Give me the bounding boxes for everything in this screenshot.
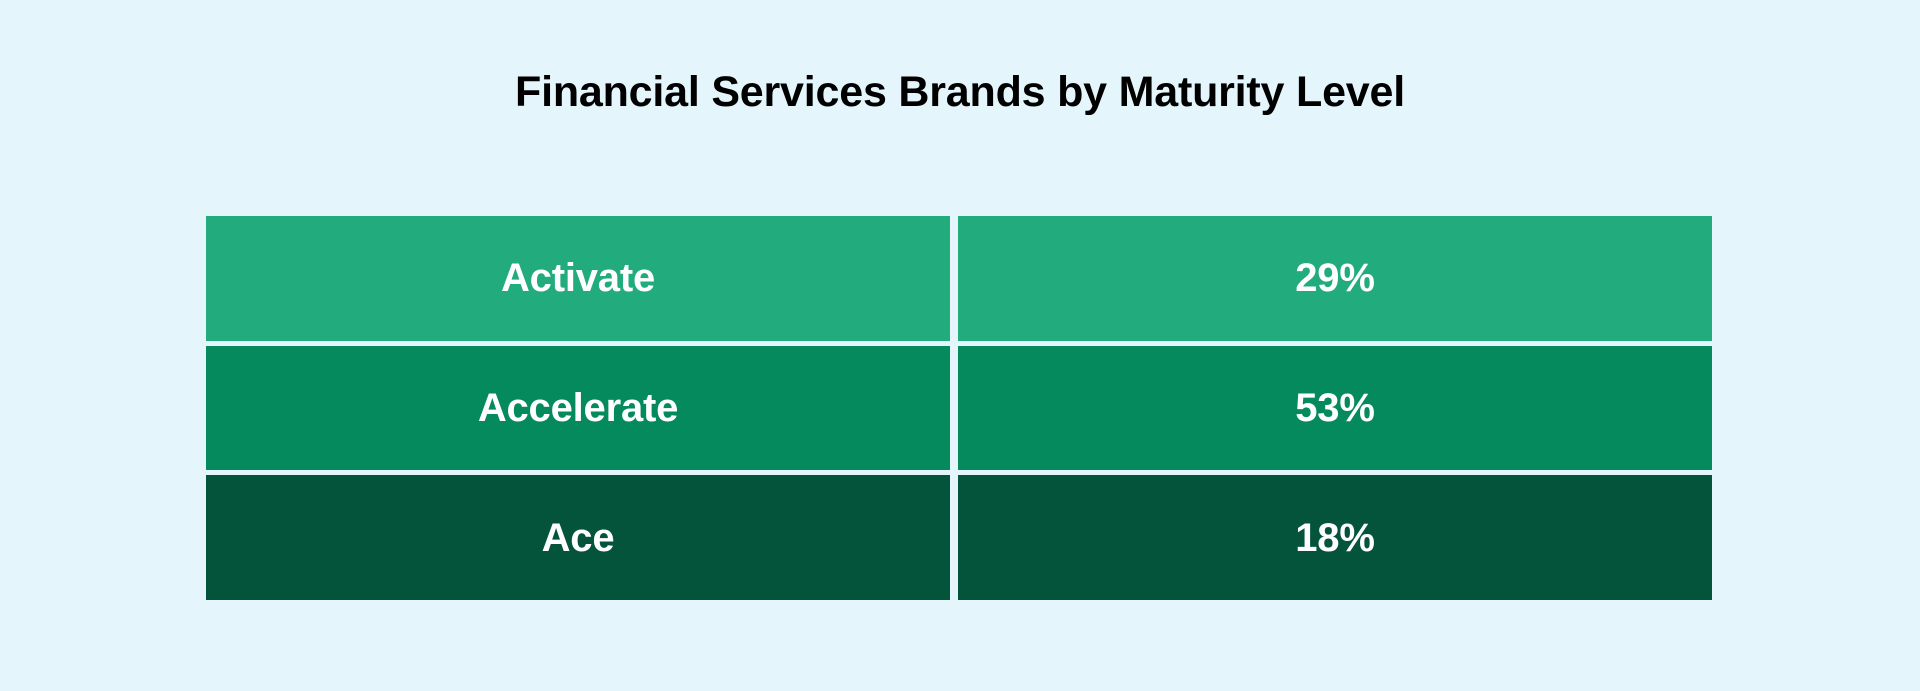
table-cell-label: Ace (206, 475, 950, 600)
table-cell-value: 18% (958, 475, 1712, 600)
table-cell-value: 29% (958, 216, 1712, 341)
infographic-table-page: Financial Services Brands by Maturity Le… (0, 0, 1920, 691)
table-cell-label: Accelerate (206, 346, 950, 471)
table-body: Activate 29% Accelerate 53% Ace 18% (206, 216, 1712, 600)
table-row: Activate 29% (206, 216, 1712, 341)
maturity-level-table: Activate 29% Accelerate 53% Ace 18% (206, 216, 1712, 600)
table-row: Accelerate 53% (206, 346, 1712, 471)
table-cell-label: Activate (206, 216, 950, 341)
table-cell-value: 53% (958, 346, 1712, 471)
page-title: Financial Services Brands by Maturity Le… (0, 66, 1920, 118)
table-row: Ace 18% (206, 475, 1712, 600)
